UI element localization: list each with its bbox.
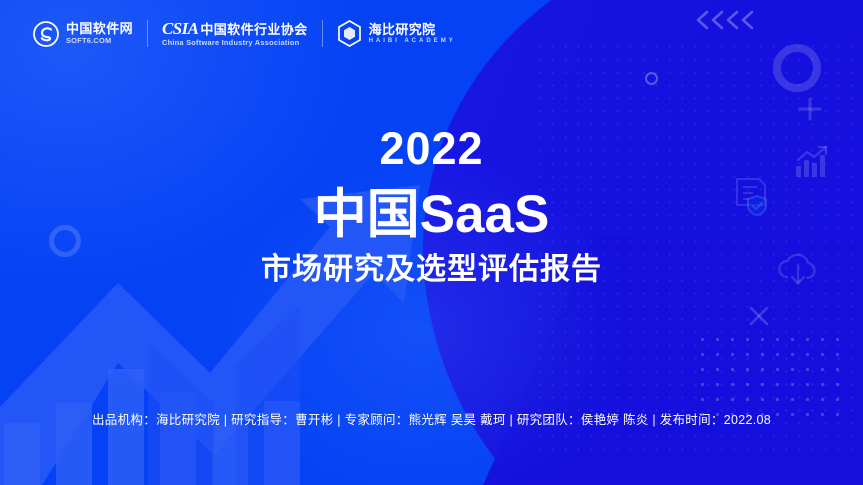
close-x-icon [748, 305, 770, 327]
presentation-cover-slide: 中国软件网 SOFT6.COM CSIA 中国软件行业协会 China Soft… [0, 0, 863, 485]
soft6-swirl-icon [33, 21, 59, 47]
title-subtitle: 市场研究及选型评估报告 [0, 252, 863, 288]
partner-logo-bar: 中国软件网 SOFT6.COM CSIA 中国软件行业协会 China Soft… [33, 20, 470, 47]
logo-csia-cn: 中国软件行业协会 [200, 23, 307, 37]
logo-csia-en: China Software Industry Association [162, 39, 308, 47]
haibi-hexagon-icon [337, 20, 362, 47]
logo-haibi-cn: 海比研究院 [369, 23, 456, 37]
logo-soft6-en: SOFT6.COM [66, 37, 133, 45]
logo-haibi[interactable]: 海比研究院 HAIBI ACADEMY [323, 20, 470, 47]
credits-footer: 出品机构：海比研究院 | 研究指导：曹开彬 | 专家顾问：熊光辉 吴昊 戴珂 |… [0, 409, 863, 428]
chevrons-left-icon [694, 8, 758, 32]
title-main: 中国SaaS [0, 185, 863, 244]
logo-soft6[interactable]: 中国软件网 SOFT6.COM [33, 21, 147, 47]
logo-soft6-cn: 中国软件网 [66, 22, 133, 36]
cover-title-block: 2022 中国SaaS 市场研究及选型评估报告 [0, 126, 863, 288]
plus-icon [797, 96, 823, 122]
title-year: 2022 [0, 126, 863, 171]
csia-wordmark: CSIA [162, 20, 198, 38]
logo-csia[interactable]: CSIA 中国软件行业协会 China Software Industry As… [148, 20, 322, 47]
logo-haibi-en: HAIBI ACADEMY [369, 38, 456, 44]
